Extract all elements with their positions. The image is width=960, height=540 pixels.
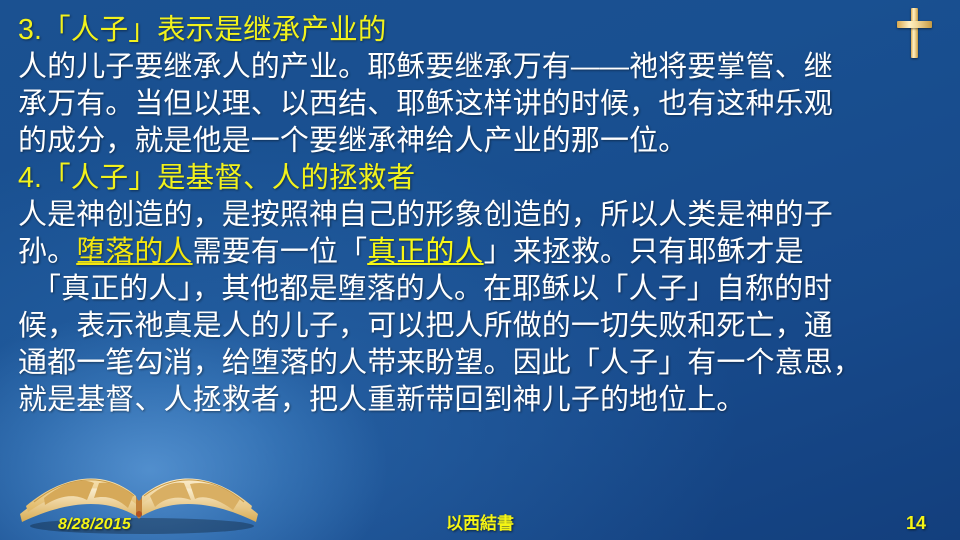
section-4-line-2-text-e: 」来拯救。只有耶稣才是: [484, 236, 804, 268]
highlight-fallen-man: 堕落的人: [76, 236, 192, 268]
section-4-line-2-text-a: 孙。: [18, 236, 76, 268]
slide-canvas: 3.「人子」表示是继承产业的 人的儿子要继承人的产业。耶稣要继承万有——祂将要掌…: [0, 0, 960, 540]
footer-title: 以西結書: [0, 509, 960, 534]
section-4-line-1: 人是神创造的，是按照神自己的形象创造的，所以人类是神的子: [18, 197, 948, 234]
slide-body: 3.「人子」表示是继承产业的 人的儿子要继承人的产业。耶稣要继承万有——祂将要掌…: [18, 12, 948, 419]
section-4-line-4: 候，表示祂真是人的儿子，可以把人所做的一切失败和死亡，通: [18, 308, 948, 345]
section-3-line-3: 的成分，就是他是一个要继承神给人产业的那一位。: [18, 123, 948, 160]
highlight-true-man: 真正的人: [367, 236, 483, 268]
section-4-line-2-text-c: 需要有一位「: [193, 236, 368, 268]
section-4-line-5: 通都一笔勾消，给堕落的人带来盼望。因此「人子」有一个意思，: [18, 345, 948, 382]
section-3-line-1: 人的儿子要继承人的产业。耶稣要继承万有——祂将要掌管、继: [18, 49, 948, 86]
section-4-heading: 4.「人子」是基督、人的拯救者: [18, 160, 948, 197]
section-3-heading: 3.「人子」表示是继承产业的: [18, 12, 948, 49]
section-4-line-6: 就是基督、人拯救者，把人重新带回到神儿子的地位上。: [18, 382, 948, 419]
section-4-line-3: 「真正的人」，其他都是堕落的人。在耶稣以「人子」自称的时: [18, 271, 948, 308]
section-4-line-2: 孙。堕落的人需要有一位「真正的人」来拯救。只有耶稣才是: [18, 234, 948, 271]
section-3-line-2: 承万有。当但以理、以西结、耶稣这样讲的时候，也有这种乐观: [18, 86, 948, 123]
footer-page-number: 14: [906, 513, 926, 534]
